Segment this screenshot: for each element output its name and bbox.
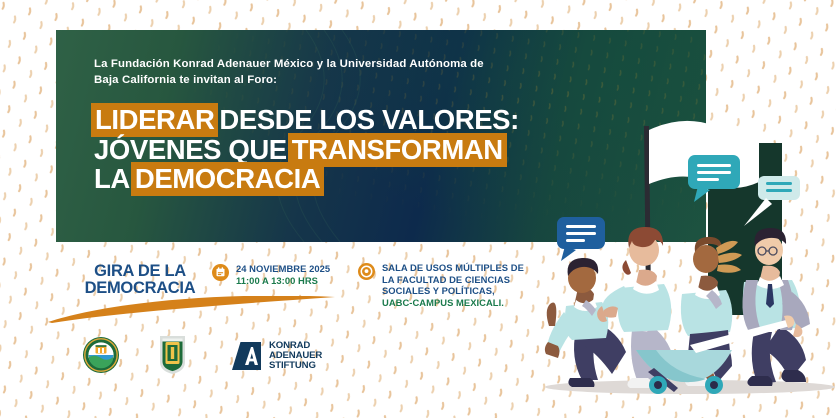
person-right: [742, 228, 810, 386]
uabc-seal-logo: [82, 336, 120, 374]
headline-line-1: LIDERARDESDE LOS VALORES:: [92, 106, 612, 134]
kas-sponsor-logo: KONRAD ADENAUER STIFTUNG: [232, 341, 322, 371]
speech-bubble-teal: [688, 155, 740, 202]
kicker-text: La Fundación Konrad Adenauer México y la…: [94, 56, 544, 88]
kas-logo-mark: [232, 341, 262, 371]
campaign-logo-swoosh: [46, 296, 336, 324]
braids: [716, 241, 742, 273]
faculty-crest-logo: [155, 334, 190, 376]
campaign-logo-line-1: GIRA DE LA: [70, 263, 210, 280]
headline-highlight-democracia: DEMOCRACIA: [131, 162, 324, 196]
event-datetime-block: 24 NOVIEMBRE 2025 11:00 A 13:00 HRS: [212, 263, 330, 286]
headline-highlight-liderar: LIDERAR: [91, 103, 218, 137]
headline-line-3: LADEMOCRACIA: [92, 165, 612, 193]
person-left: [545, 258, 626, 387]
headline-line-2: JÓVENES QUETRANSFORMAN: [92, 136, 612, 164]
headline-plain-1: DESDE LOS VALORES:: [217, 103, 520, 137]
location-pin-icon: [358, 263, 375, 280]
speech-bubble-blue: [557, 217, 605, 261]
campaign-logo: GIRA DE LA DEMOCRACIA: [70, 263, 210, 296]
event-datetime-text: 24 NOVIEMBRE 2025 11:00 A 13:00 HRS: [236, 263, 330, 286]
venue-line-3: SOCIALES Y POLÍTICAS,: [382, 285, 495, 296]
campaign-logo-line-2: DEMOCRACIA: [70, 280, 210, 297]
kas-text-line-3: STIFTUNG: [269, 361, 322, 371]
venue-line-1: SALA DE USOS MÚLTIPLES DE: [382, 262, 524, 273]
calendar-icon: [212, 264, 229, 281]
venue-line-2: LA FACULTAD DE CIENCIAS: [382, 274, 510, 285]
event-time: 11:00 A 13:00 HRS: [236, 275, 318, 286]
event-date: 24 NOVIEMBRE 2025: [236, 263, 330, 274]
event-venue-text: SALA DE USOS MÚLTIPLES DE LA FACULTAD DE…: [382, 262, 524, 308]
venue-line-4: UABC-CAMPUS MEXICALI.: [382, 297, 504, 308]
poster-canvas: La Fundación Konrad Adenauer México y la…: [0, 0, 836, 418]
kas-logo-text: KONRAD ADENAUER STIFTUNG: [269, 341, 322, 370]
event-venue-block: SALA DE USOS MÚLTIPLES DE LA FACULTAD DE…: [358, 262, 524, 308]
people-illustration: [540, 120, 836, 395]
page-title: LIDERARDESDE LOS VALORES: JÓVENES QUETRA…: [92, 106, 612, 195]
headline-plain-3: LA: [92, 162, 132, 196]
